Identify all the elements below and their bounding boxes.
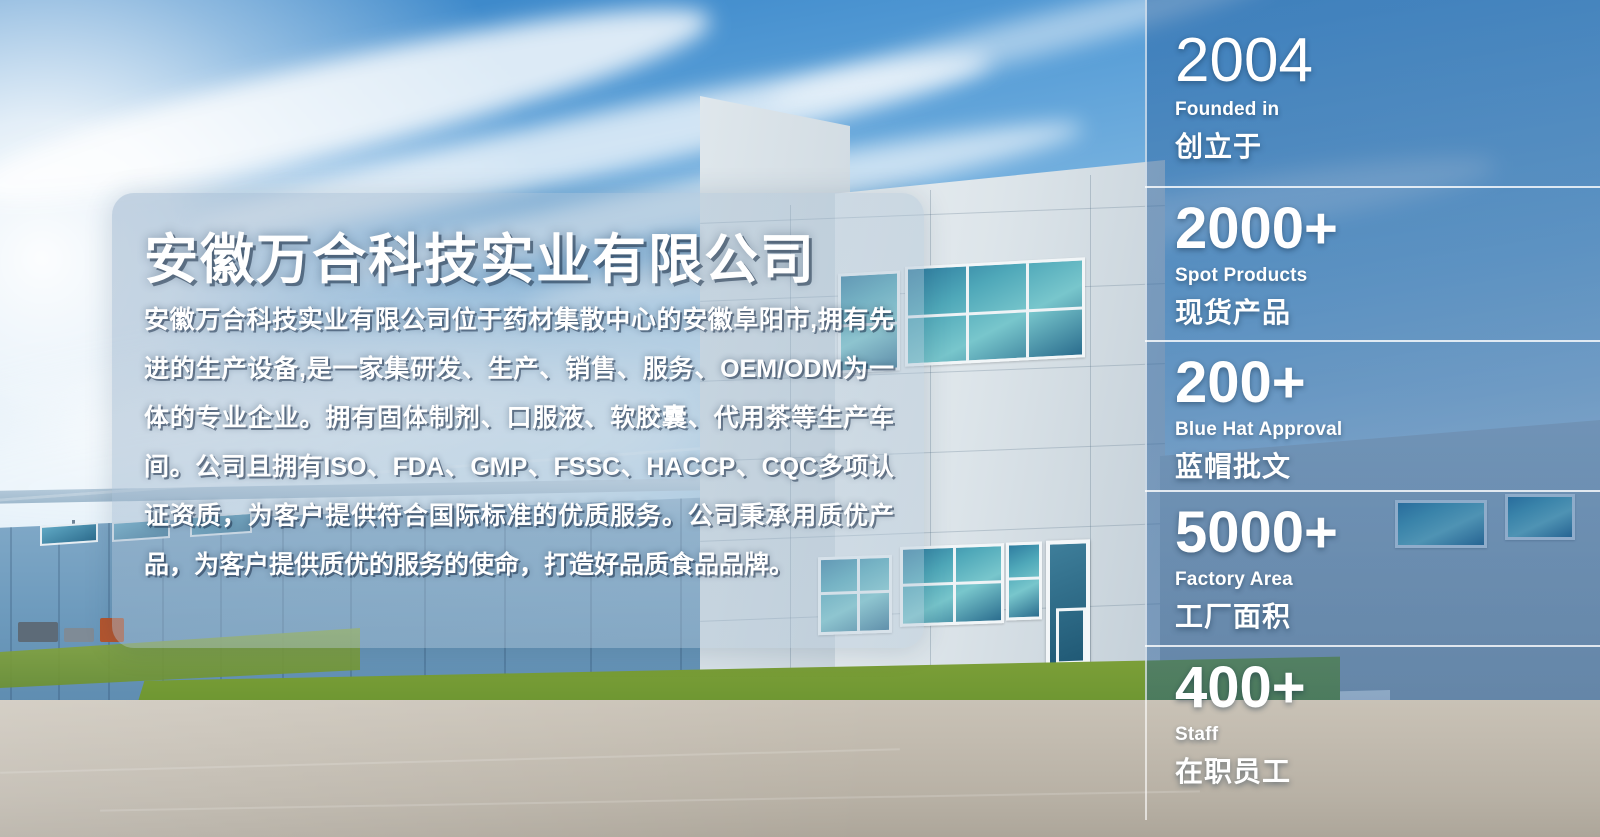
stat-divider	[1145, 186, 1600, 188]
stat-number: 400+	[1175, 645, 1600, 717]
stat-item-factory-area: 5000+ Factory Area 工厂面积	[1145, 490, 1600, 635]
stat-label-cn: 现货产品	[1175, 291, 1600, 331]
stat-item-staff: 400+ Staff 在职员工	[1145, 645, 1600, 790]
stat-number: 200+	[1175, 340, 1600, 412]
office-window	[905, 257, 1085, 366]
company-title: 安徽万合科技实业有限公司	[144, 215, 904, 294]
stat-label-cn: 蓝帽批文	[1175, 445, 1600, 485]
vehicle	[18, 622, 58, 642]
stats-column: 2004 Founded in 创立于 2000+ Spot Products …	[1120, 0, 1600, 837]
vehicle	[64, 628, 94, 642]
stat-item-blue-hat-approval: 200+ Blue Hat Approval 蓝帽批文	[1145, 340, 1600, 485]
stat-label-cn: 创立于	[1175, 125, 1600, 165]
stat-item-spot-products: 2000+ Spot Products 现货产品	[1145, 186, 1600, 331]
stat-label-cn: 在职员工	[1175, 750, 1600, 790]
stat-label-en: Founded in	[1175, 99, 1600, 121]
stat-label-cn: 工厂面积	[1175, 595, 1600, 635]
stat-number: 5000+	[1175, 490, 1600, 562]
warehouse-window	[40, 522, 98, 546]
stat-divider	[1145, 490, 1600, 492]
stat-item-founded: 2004 Founded in 创立于	[1145, 30, 1600, 165]
company-description: 安徽万合科技实业有限公司位于药材集散中心的安徽阜阳市,拥有先进的生产设备,是一家…	[144, 296, 894, 590]
stat-label-en: Blue Hat Approval	[1175, 419, 1600, 441]
stat-number: 2000+	[1175, 186, 1600, 258]
banner-stage: 安徽万合科技实业有限公司 安徽万合科技实业有限公司位于药材集散中心的安徽阜阳市,…	[0, 0, 1600, 837]
office-window	[1006, 541, 1042, 620]
stat-label-en: Spot Products	[1175, 265, 1600, 287]
company-info-card: 安徽万合科技实业有限公司 安徽万合科技实业有限公司位于药材集散中心的安徽阜阳市,…	[112, 193, 924, 648]
stat-label-en: Staff	[1175, 724, 1600, 746]
office-entrance-door	[1046, 539, 1090, 671]
stat-number: 2004	[1175, 30, 1600, 92]
stat-divider	[1145, 340, 1600, 342]
stat-label-en: Factory Area	[1175, 569, 1600, 591]
stat-divider	[1145, 645, 1600, 647]
